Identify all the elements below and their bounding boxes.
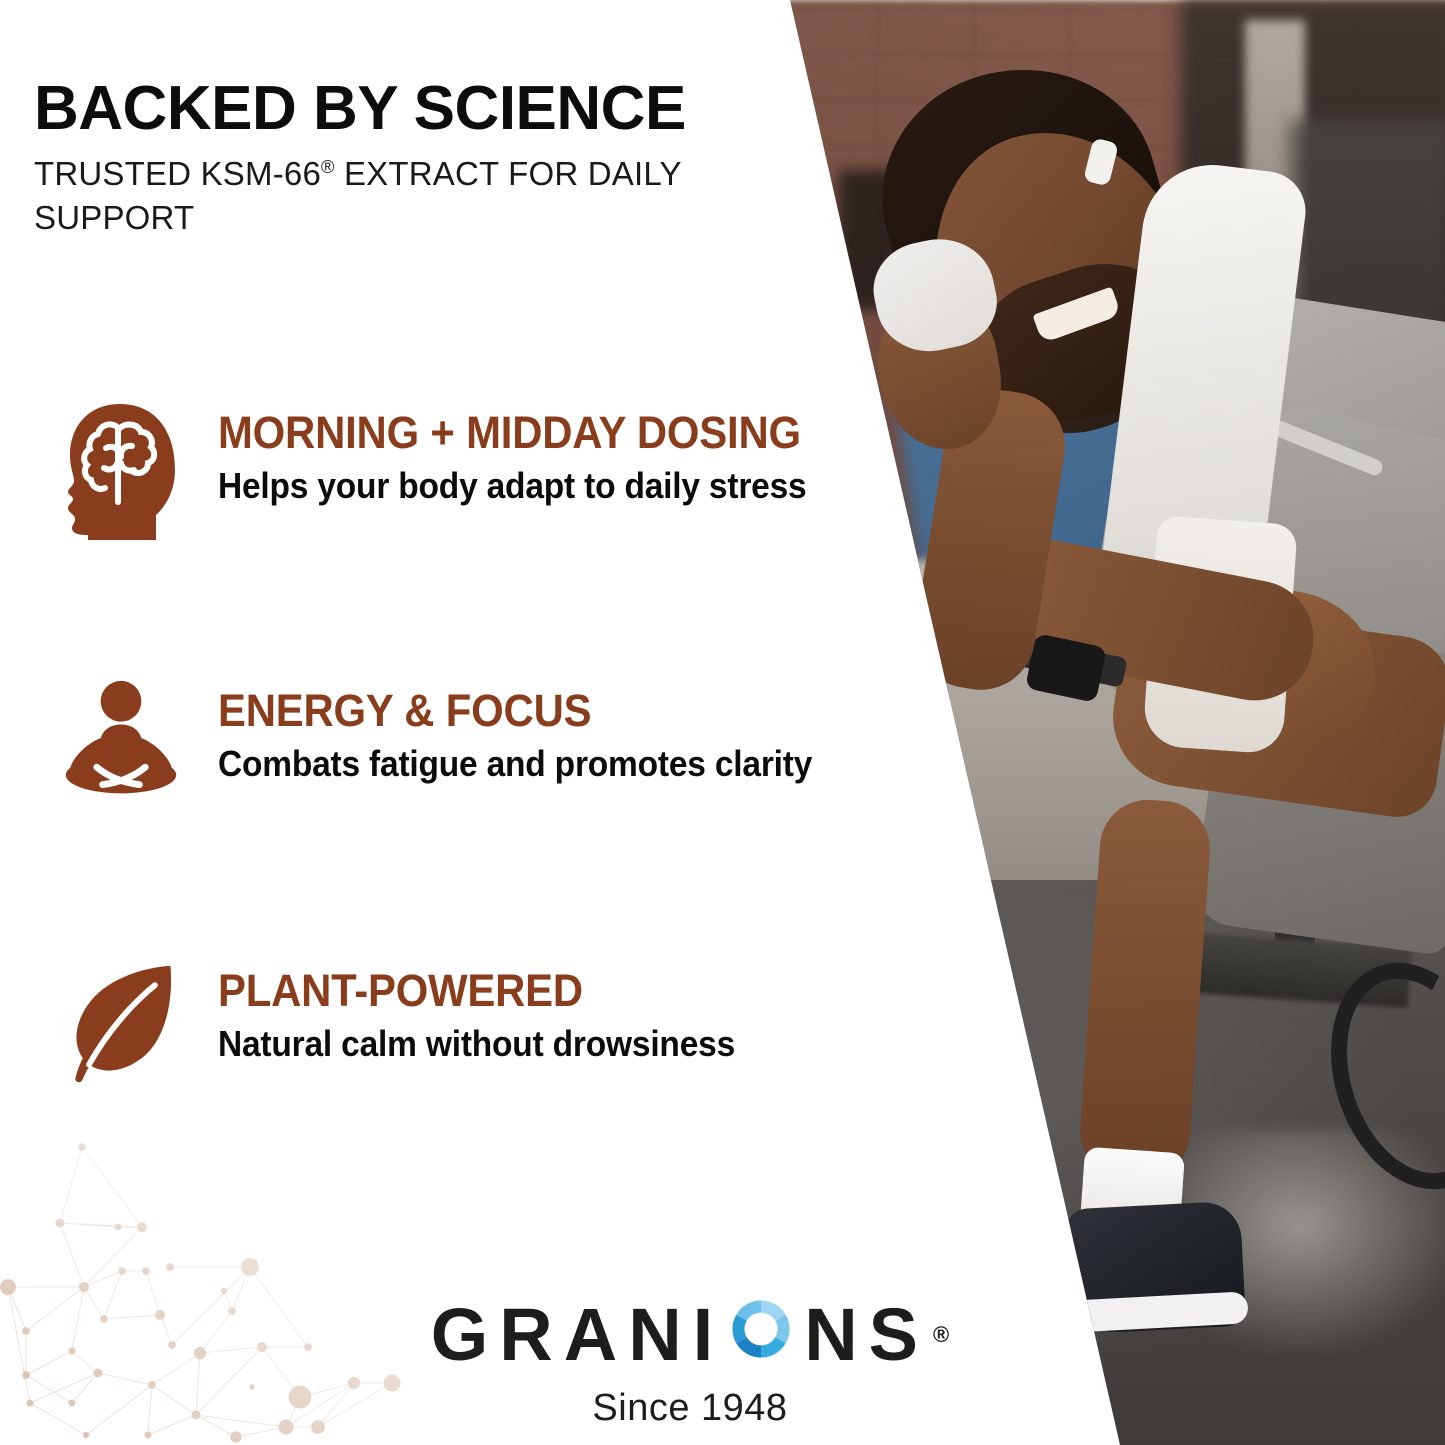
feature-row: MORNING + MIDDAY DOSING Helps your body …: [36, 400, 836, 570]
page-subtitle: TRUSTED KSM-66® EXTRACT FOR DAILY SUPPOR…: [34, 152, 746, 239]
feature-title: PLANT-POWERED: [218, 968, 813, 1013]
feature-text: MORNING + MIDDAY DOSING Helps your body …: [218, 410, 858, 505]
brand-logo: GRANI NS ® Since 1948: [400, 1295, 980, 1430]
logo-ring-o-icon: [727, 1295, 795, 1375]
infographic-canvas: BACKED BY SCIENCE TRUSTED KSM-66® EXTRAC…: [0, 0, 1445, 1445]
feature-description: Combats fatigue and promotes clarity: [218, 745, 813, 783]
feature-text: ENERGY & FOCUS Combats fatigue and promo…: [218, 688, 858, 783]
photo-shading: [780, 0, 1445, 1445]
leaf-icon: [58, 958, 198, 1108]
logo-registered-mark: ®: [933, 1324, 949, 1346]
feature-row: PLANT-POWERED Natural calm without drows…: [36, 958, 836, 1128]
subtitle-prefix: TRUSTED KSM-66: [34, 155, 321, 192]
logo-tagline: Since 1948: [400, 1387, 980, 1430]
logo-word-suffix: NS: [804, 1298, 929, 1372]
feature-text: PLANT-POWERED Natural calm without drows…: [218, 968, 858, 1063]
meditation-lotus-icon: [58, 678, 198, 828]
logo-word-prefix: GRANI: [431, 1298, 724, 1372]
logo-wordmark: GRANI NS ®: [400, 1295, 980, 1375]
brain-head-icon: [58, 400, 198, 550]
feature-title: MORNING + MIDDAY DOSING: [218, 410, 813, 455]
feature-description: Natural calm without drowsiness: [218, 1025, 813, 1063]
feature-row: ENERGY & FOCUS Combats fatigue and promo…: [36, 678, 836, 848]
feature-title: ENERGY & FOCUS: [218, 688, 813, 733]
molecular-network-graphic: [0, 1135, 430, 1445]
registered-mark: ®: [321, 157, 335, 177]
feature-description: Helps your body adapt to daily stress: [218, 467, 813, 505]
page-title: BACKED BY SCIENCE: [34, 78, 754, 140]
